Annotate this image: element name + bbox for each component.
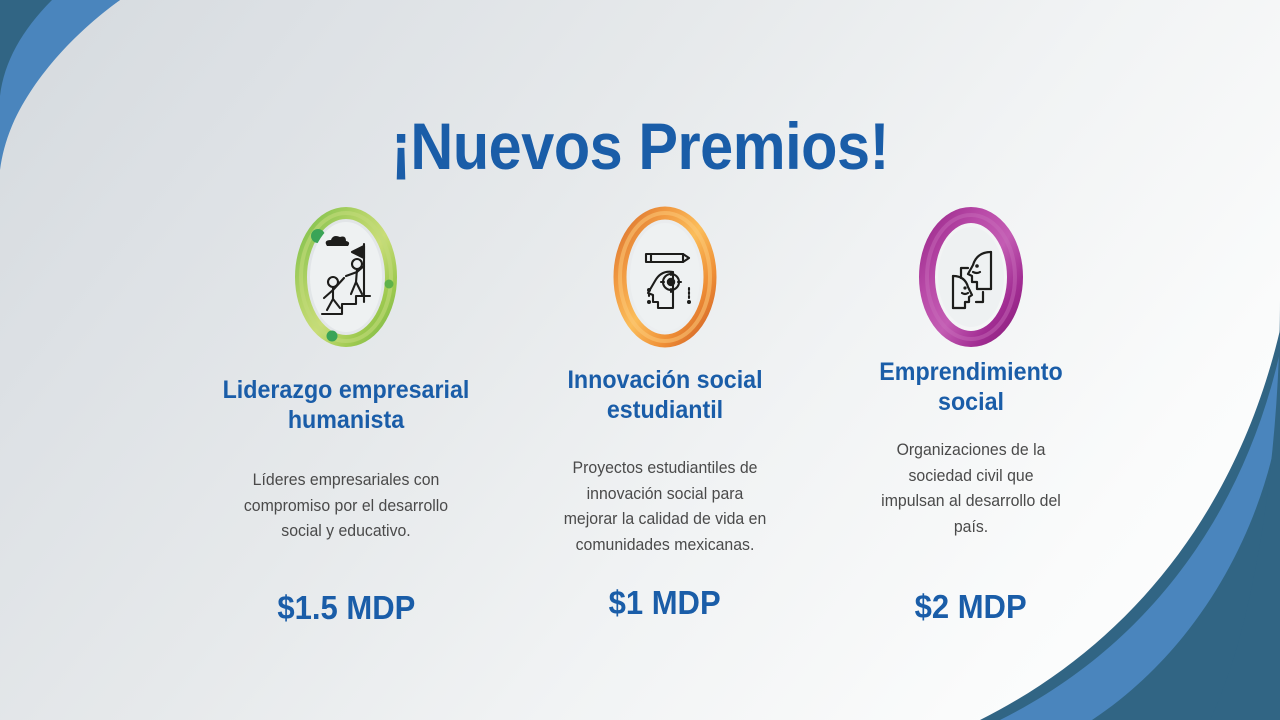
swoosh-bottom-right-edge (1210, 300, 1280, 720)
award-description: Proyectos estudiantiles de innovación so… (558, 456, 771, 558)
award-card-emprendimiento: Emprendimiento social Organizaciones de … (846, 206, 1096, 626)
award-card-liderazgo: Liderazgo empresarial humanista Líderes … (196, 206, 496, 627)
award-description: Líderes empresariales con compromiso por… (226, 468, 466, 545)
award-amount: $1.5 MDP (277, 589, 415, 627)
two-heads-profiles-social-icon (919, 206, 1023, 348)
awards-row: Liderazgo empresarial humanista Líderes … (196, 206, 1096, 627)
leadership-climb-flag-icon (294, 206, 398, 348)
award-amount: $1 MDP (609, 584, 721, 622)
award-title: Emprendimiento social (855, 358, 1088, 420)
award-title: Liderazgo empresarial humanista (207, 376, 486, 438)
award-amount: $2 MDP (915, 588, 1027, 626)
swoosh-top-left-band-b (0, 0, 52, 96)
award-card-innovacion: Innovación social estudiantil Proyectos … (540, 206, 790, 622)
page-title: ¡Nuevos Premios! (64, 112, 1216, 181)
slide-canvas: ¡Nuevos Premios! (0, 0, 1280, 720)
award-description: Organizaciones de la sociedad civil que … (875, 438, 1067, 540)
award-title: Innovación social estudiantil (549, 366, 782, 428)
head-gear-pencil-innovation-icon (613, 206, 717, 348)
